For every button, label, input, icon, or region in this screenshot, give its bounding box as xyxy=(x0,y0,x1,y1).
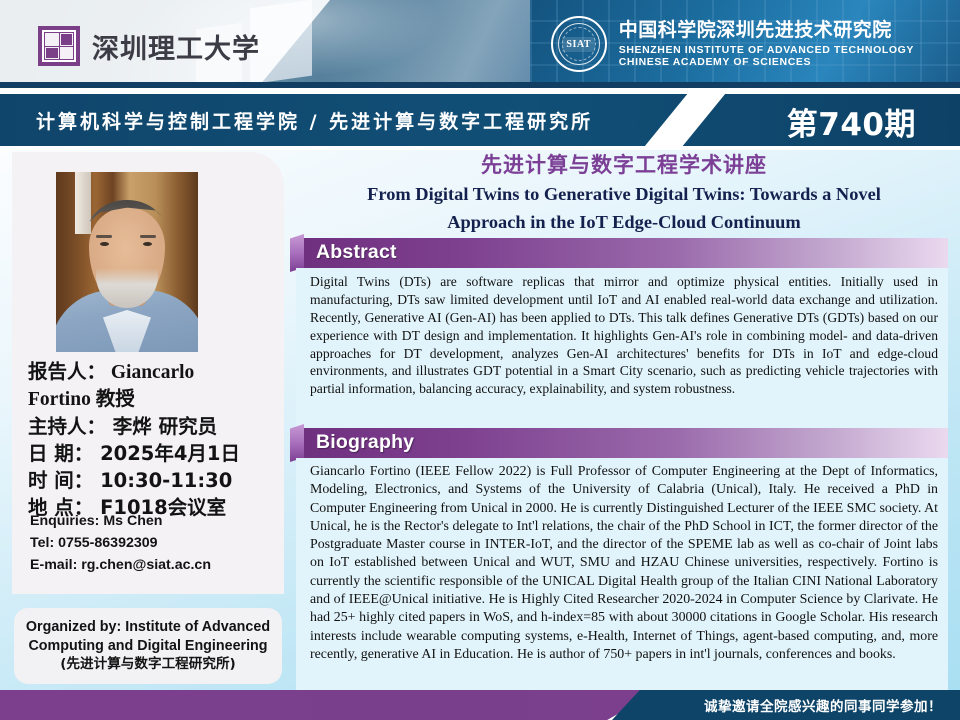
contact-enquiries: Enquiries: Ms Chen xyxy=(30,510,280,532)
detail-time: 时 间： 10:30-11:30 xyxy=(28,468,278,495)
organizer-line2: Computing and Digital Engineering xyxy=(28,637,267,656)
footer-bar: 诚挚邀请全院感兴趣的同事同学参加！ xyxy=(0,690,960,720)
organizer-card: Organized by: Institute of Advanced Comp… xyxy=(14,608,282,684)
speaker-portrait-photo xyxy=(56,172,198,352)
seminar-poster: 深圳理工大学 SIAT 中国科学院深圳先进技术研究院 SHENZHEN INST… xyxy=(0,0,960,720)
talk-title-cn: 先进计算与数字工程学术讲座 xyxy=(296,152,952,179)
contact-email[interactable]: E-mail: rg.chen@siat.ac.cn xyxy=(30,554,280,576)
footer-purple-band xyxy=(0,690,660,720)
detail-speaker-line2: Fortino 教授 xyxy=(28,387,278,414)
institute-branding: SIAT 中国科学院深圳先进技术研究院 SHENZHEN INSTITUTE O… xyxy=(551,16,914,72)
section-tab-icon xyxy=(290,424,304,462)
top-banner: 深圳理工大学 SIAT 中国科学院深圳先进技术研究院 SHENZHEN INST… xyxy=(0,0,960,88)
university-logo: 深圳理工大学 xyxy=(38,26,260,66)
talk-title-en-line1: From Digital Twins to Generative Digital… xyxy=(296,182,952,206)
shenzhen-university-seal-icon xyxy=(38,26,80,66)
abstract-section-header: Abstract xyxy=(296,238,948,268)
footer-invitation-note: 诚挚邀请全院感兴趣的同事同学参加！ xyxy=(704,695,942,715)
issue-number: 第740期 xyxy=(787,99,916,144)
contact-list: Enquiries: Ms Chen Tel: 0755-86392309 E-… xyxy=(30,510,280,576)
detail-host: 主持人： 李烨 研究员 xyxy=(28,414,278,441)
speaker-detail-list: 报告人： Giancarlo Fortino 教授 主持人： 李烨 研究员 日 … xyxy=(28,360,278,521)
detail-date: 日 期： 2025年4月1日 xyxy=(28,441,278,468)
abstract-heading: Abstract xyxy=(316,241,397,264)
talk-title-block: 先进计算与数字工程学术讲座 From Digital Twins to Gene… xyxy=(296,152,952,234)
organizer-line3: (先进计算与数字工程研究所) xyxy=(60,656,236,674)
institute-name-en-line1: SHENZHEN INSTITUTE OF ADVANCED TECHNOLOG… xyxy=(619,44,914,56)
organizer-line1: Organized by: Institute of Advanced xyxy=(26,618,270,637)
department-name: 计算机科学与控制工程学院 / 先进计算与数字工程研究所 xyxy=(36,107,593,134)
biography-heading: Biography xyxy=(316,431,414,454)
talk-title-en-line2: Approach in the IoT Edge-Cloud Continuum xyxy=(296,210,952,234)
banner-bottom-rule xyxy=(0,82,960,88)
institute-name-en-line2: CHINESE ACADEMY OF SCIENCES xyxy=(619,56,914,68)
siat-seal-icon: SIAT xyxy=(551,16,607,72)
biography-text: Giancarlo Fortino (IEEE Fellow 2022) is … xyxy=(296,458,948,692)
biography-section-header: Biography xyxy=(296,428,948,458)
section-tab-icon xyxy=(290,234,304,272)
detail-speaker-line1: 报告人： Giancarlo xyxy=(28,360,278,387)
abstract-text: Digital Twins (DTs) are software replica… xyxy=(296,268,948,428)
speaker-info-card: 报告人： Giancarlo Fortino 教授 主持人： 李烨 研究员 日 … xyxy=(12,152,284,594)
siat-seal-text: SIAT xyxy=(562,37,595,52)
contact-telephone: Tel: 0755-86392309 xyxy=(30,532,280,554)
department-bar: 计算机科学与控制工程学院 / 先进计算与数字工程研究所 第740期 xyxy=(0,94,960,146)
university-name: 深圳理工大学 xyxy=(92,27,260,66)
institute-name-cn: 中国科学院深圳先进技术研究院 xyxy=(619,19,914,41)
